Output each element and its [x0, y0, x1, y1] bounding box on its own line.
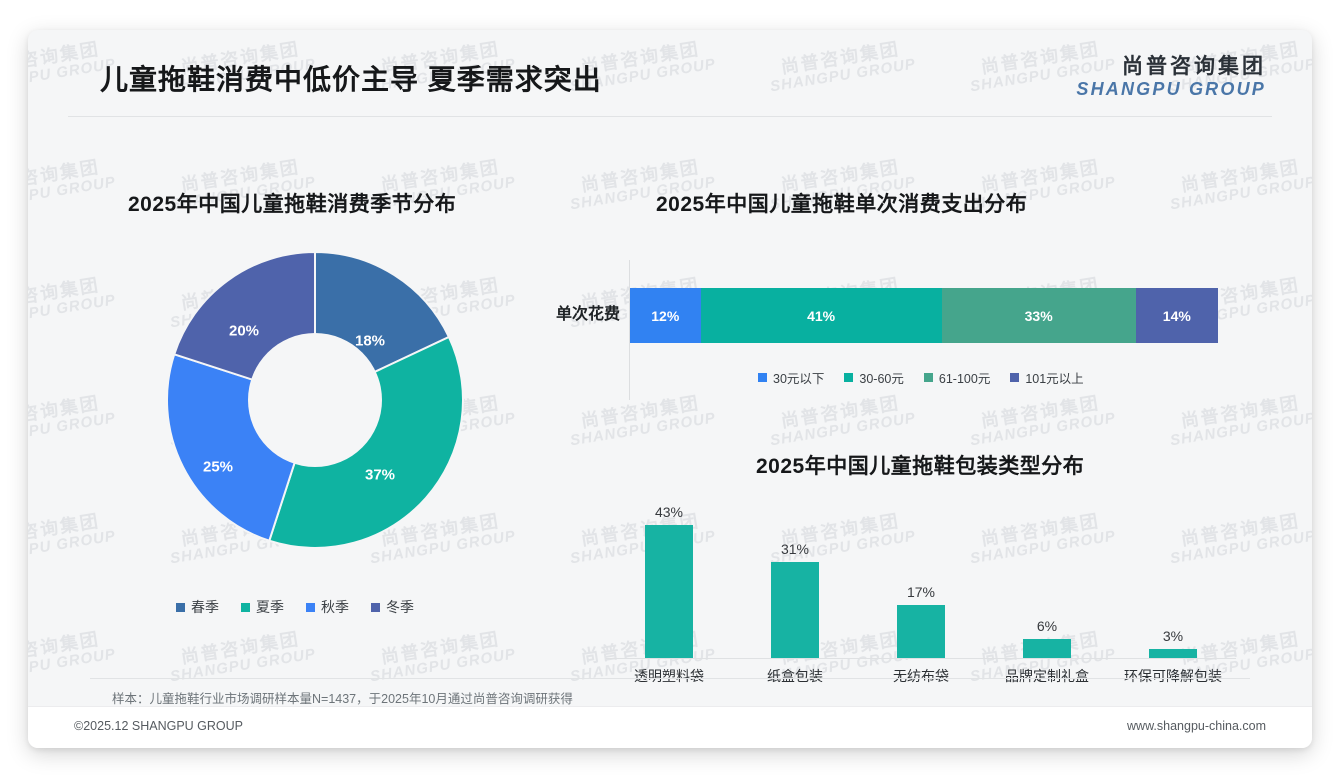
chart-spend-distribution: 2025年中国儿童拖鞋单次消费支出分布 单次花费 12% 41% 33% 14%…: [628, 160, 1268, 420]
legend-swatch-icon: [371, 603, 380, 612]
stacked-seg-2[interactable]: 33%: [942, 288, 1136, 343]
bar-rect[interactable]: [771, 562, 819, 658]
legend-swatch-icon: [306, 603, 315, 612]
bar-value-label: 17%: [907, 584, 935, 600]
bar-value-label: 3%: [1163, 628, 1183, 644]
legend-label: 春季: [191, 597, 219, 617]
legend-item-season-2[interactable]: 秋季: [306, 597, 349, 617]
chart-season-distribution: 2025年中国儿童拖鞋消费季节分布 18% 37% 25% 20% 春季 夏季: [100, 160, 610, 680]
legend-label: 秋季: [321, 597, 349, 617]
donut-label-2: 25%: [203, 459, 233, 476]
legend-item-season-1[interactable]: 夏季: [241, 597, 284, 617]
legend-swatch-icon: [924, 373, 933, 382]
stacked-seg-label: 33%: [1025, 308, 1053, 324]
legend-item-spend-3[interactable]: 101元以上: [1010, 368, 1083, 387]
donut-label-1: 37%: [365, 467, 395, 484]
stacked-seg-label: 12%: [651, 308, 679, 324]
legend-item-spend-0[interactable]: 30元以下: [758, 368, 824, 387]
bar-column[interactable]: 43%: [606, 498, 732, 658]
bar-chart-plot: 43% 31% 17% 6% 3%: [606, 498, 1236, 658]
legend-swatch-icon: [844, 373, 853, 382]
chart-title-season: 2025年中国儿童拖鞋消费季节分布: [128, 188, 456, 218]
bar-category-label: 无纺布袋: [858, 666, 984, 686]
stacked-bar-row: 12% 41% 33% 14%: [630, 288, 1218, 343]
stacked-seg-label: 14%: [1163, 308, 1191, 324]
bar-chart-category-labels: 透明塑料袋 纸盒包装 无纺布袋 品牌定制礼盒 环保可降解包装: [606, 666, 1236, 686]
donut-hole: [248, 333, 382, 467]
bar-column[interactable]: 6%: [984, 498, 1110, 658]
donut-svg: [160, 245, 470, 555]
legend-swatch-icon: [176, 603, 185, 612]
bar-value-label: 6%: [1037, 618, 1057, 634]
bar-rect[interactable]: [1023, 639, 1071, 658]
bar-chart-axis-line: [606, 658, 1236, 659]
donut-label-3: 20%: [229, 323, 259, 340]
stacked-bar-category-label: 单次花费: [524, 300, 620, 324]
bar-value-label: 43%: [655, 504, 683, 520]
stacked-seg-1[interactable]: 41%: [701, 288, 942, 343]
brand-logo: 尚普咨询集团 SHANGPU GROUP: [1076, 55, 1266, 99]
legend-label: 夏季: [256, 597, 284, 617]
footer-website[interactable]: www.shangpu-china.com: [1127, 719, 1266, 733]
legend-label: 30-60元: [859, 368, 903, 387]
page-title: 儿童拖鞋消费中低价主导 夏季需求突出: [100, 58, 602, 98]
bar-rect[interactable]: [1149, 649, 1197, 658]
legend-label: 101元以上: [1025, 368, 1083, 387]
legend-label: 61-100元: [939, 368, 990, 387]
header-divider: [68, 116, 1272, 117]
legend-item-season-0[interactable]: 春季: [176, 597, 219, 617]
legend-label: 冬季: [386, 597, 414, 617]
legend-swatch-icon: [241, 603, 250, 612]
legend-spend: 30元以下 30-60元 61-100元 101元以上: [748, 368, 1094, 387]
logo-chinese-text: 尚普咨询集团: [1076, 55, 1266, 79]
bar-category-label: 纸盒包装: [732, 666, 858, 686]
stacked-seg-label: 41%: [807, 308, 835, 324]
bar-category-label: 透明塑料袋: [606, 666, 732, 686]
donut-label-0: 18%: [355, 333, 385, 350]
slide-card: 尚普咨询集团SHANGPU GROUP尚普咨询集团SHANGPU GROUP尚普…: [28, 30, 1312, 748]
footnote-divider: [90, 678, 1250, 679]
logo-english-text: SHANGPU GROUP: [1076, 79, 1266, 100]
bar-category-label: 品牌定制礼盒: [984, 666, 1110, 686]
chart-title-spend: 2025年中国儿童拖鞋单次消费支出分布: [656, 188, 1027, 218]
legend-item-spend-2[interactable]: 61-100元: [924, 368, 990, 387]
stacked-seg-3[interactable]: 14%: [1136, 288, 1218, 343]
slide-header: 儿童拖鞋消费中低价主导 夏季需求突出 尚普咨询集团 SHANGPU GROUP: [28, 30, 1312, 116]
chart-title-packaging: 2025年中国儿童拖鞋包装类型分布: [756, 450, 1084, 480]
stacked-seg-0[interactable]: 12%: [630, 288, 701, 343]
bar-rect[interactable]: [645, 525, 693, 658]
legend-swatch-icon: [758, 373, 767, 382]
bar-column[interactable]: 17%: [858, 498, 984, 658]
bar-value-label: 31%: [781, 541, 809, 557]
sample-note: 样本：儿童拖鞋行业市场调研样本量N=1437，于2025年10月通过尚普咨询调研…: [112, 688, 573, 707]
legend-item-spend-1[interactable]: 30-60元: [844, 368, 903, 387]
chart-packaging-distribution: 2025年中国儿童拖鞋包装类型分布 43% 31% 17% 6% 3%: [628, 428, 1268, 698]
bar-rect[interactable]: [897, 605, 945, 658]
legend-season: 春季 夏季 秋季 冬季: [130, 597, 460, 617]
legend-label: 30元以下: [773, 368, 824, 387]
footer-copyright: ©2025.12 SHANGPU GROUP: [74, 719, 243, 733]
legend-item-season-3[interactable]: 冬季: [371, 597, 414, 617]
bar-column[interactable]: 31%: [732, 498, 858, 658]
bar-column[interactable]: 3%: [1110, 498, 1236, 658]
bar-category-label: 环保可降解包装: [1110, 666, 1236, 686]
legend-swatch-icon: [1010, 373, 1019, 382]
slide-footer: ©2025.12 SHANGPU GROUP www.shangpu-china…: [28, 706, 1312, 748]
donut-chart: 18% 37% 25% 20%: [160, 245, 470, 555]
